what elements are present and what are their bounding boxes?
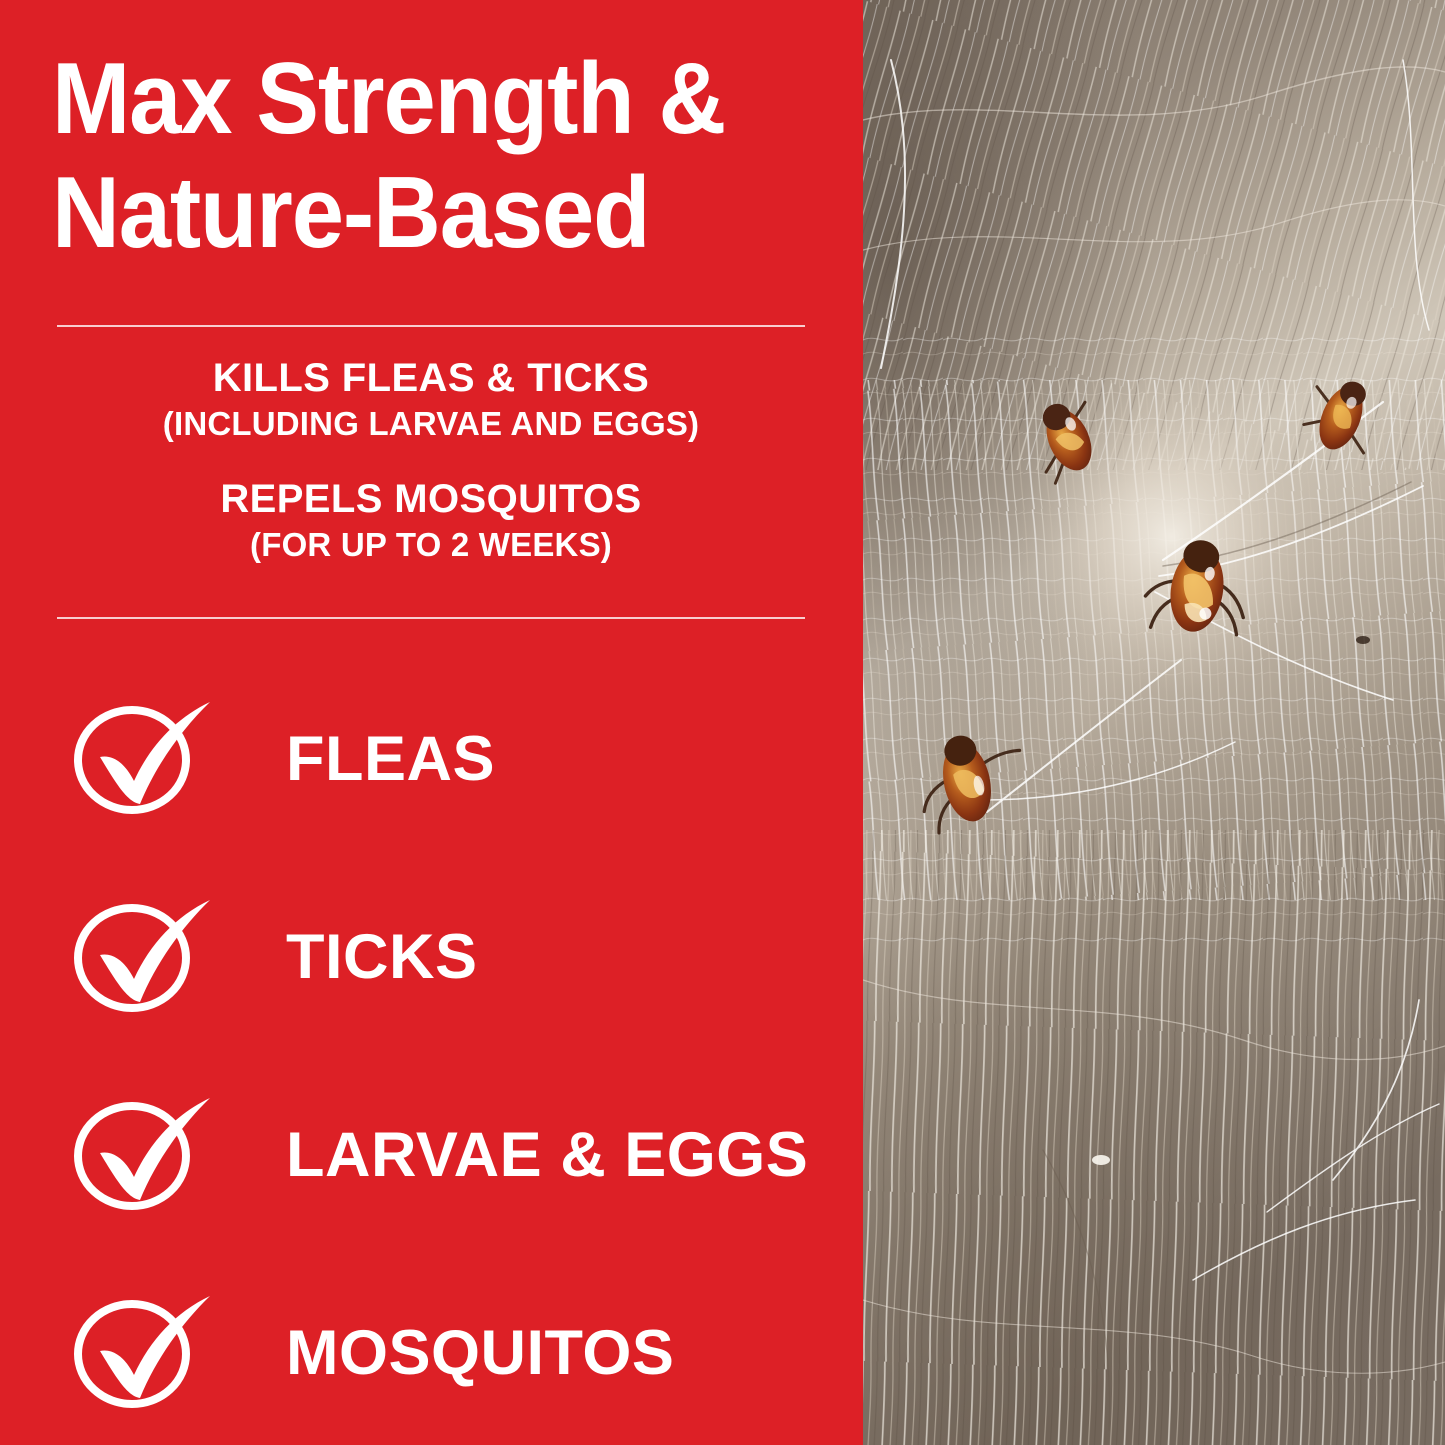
headline-line-2: Nature-Based [52,156,787,270]
fur-highlight-speck [1092,1155,1110,1165]
check-circle-icon [70,699,220,819]
claim-group-mosquitos: REPELS MOSQUITOS (FOR UP TO 2 WEEKS) [57,476,805,565]
claim-sub-text: (FOR UP TO 2 WEEKS) [57,526,805,565]
claims-block: KILLS FLEAS & TICKS (INCLUDING LARVAE AN… [57,355,805,565]
fur-illustration [863,0,1445,1445]
check-circle-icon [70,897,220,1017]
benefit-list: FLEAS TICKS LARVAE & E [0,660,863,1445]
copy-panel: Max Strength & Nature-Based KILLS FLEAS … [0,0,863,1445]
headline-line-1: Max Strength & [52,42,787,156]
check-circle-icon [70,1095,220,1215]
list-item: TICKS [0,858,863,1056]
product-feature-banner: Max Strength & Nature-Based KILLS FLEAS … [0,0,1445,1445]
claim-main-text: REPELS MOSQUITOS [57,476,805,523]
divider-top [57,325,805,327]
list-item-label: TICKS [286,921,478,993]
list-item: MOSQUITOS [0,1254,863,1445]
claim-sub-text: (INCLUDING LARVAE AND EGGS) [57,405,805,444]
claim-group-fleas-ticks: KILLS FLEAS & TICKS (INCLUDING LARVAE AN… [57,355,805,444]
list-item-label: FLEAS [286,723,495,795]
debris-speck [1356,636,1370,644]
divider-bottom [57,617,805,619]
list-item: LARVAE & EGGS [0,1056,863,1254]
list-item-label: MOSQUITOS [286,1317,674,1389]
claim-main-text: KILLS FLEAS & TICKS [57,355,805,402]
check-circle-icon [70,1293,220,1413]
flea-infested-fur-photo [863,0,1445,1445]
list-item: FLEAS [0,660,863,858]
list-item-label: LARVAE & EGGS [286,1119,808,1191]
headline: Max Strength & Nature-Based [52,42,787,270]
